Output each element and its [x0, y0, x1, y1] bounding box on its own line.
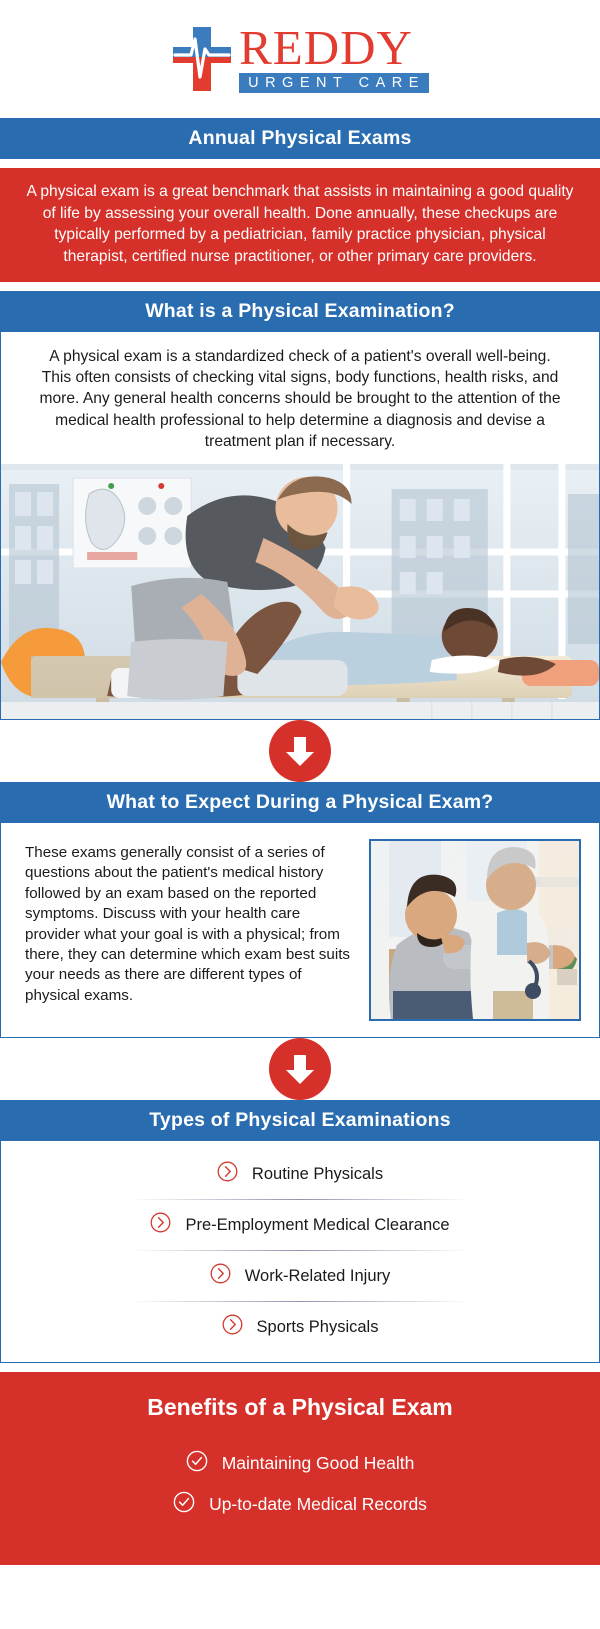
what-to-expect-body-text: These exams generally consist of a serie…: [25, 839, 355, 1006]
list-item-label: Routine Physicals: [252, 1165, 383, 1184]
spacer-before-benefits: [0, 1363, 600, 1372]
down-arrow-icon: [269, 1038, 331, 1100]
list-item[interactable]: Up-to-date Medical Records: [10, 1484, 590, 1525]
logo[interactable]: REDDY URGENT CARE: [171, 25, 429, 94]
check-circle-icon: [186, 1450, 208, 1477]
intro-paragraph: A physical exam is a great benchmark tha…: [0, 168, 600, 282]
chevron-right-circle-icon: [210, 1263, 231, 1289]
down-arrow-icon: [269, 720, 331, 782]
list-item-label: Work-Related Injury: [245, 1267, 391, 1286]
page-title: Annual Physical Exams: [0, 118, 600, 159]
list-item-label: Maintaining Good Health: [222, 1453, 415, 1474]
section-heading-benefits: Benefits of a Physical Exam: [10, 1394, 590, 1421]
types-list: Routine Physicals Pre-Employment Medical…: [1, 1141, 599, 1362]
site-logo-header: REDDY URGENT CARE: [0, 0, 600, 118]
list-item[interactable]: Sports Physicals: [1, 1302, 599, 1352]
list-item[interactable]: Routine Physicals: [1, 1149, 599, 1199]
section-heading-types: Types of Physical Examinations: [0, 1100, 600, 1141]
list-divider: [130, 1301, 470, 1302]
arrow-divider-2: [0, 1038, 600, 1100]
spacer-after-title: [0, 159, 600, 168]
list-item[interactable]: Pre-Employment Medical Clearance: [1, 1200, 599, 1250]
section-panel-what-is: A physical exam is a standardized check …: [0, 332, 600, 720]
what-is-body-text: A physical exam is a standardized check …: [1, 332, 599, 464]
logo-tagline: URGENT CARE: [239, 73, 429, 93]
list-item-label: Sports Physicals: [257, 1318, 379, 1337]
list-divider: [130, 1199, 470, 1200]
arrow-divider-1: [0, 720, 600, 782]
spacer-after-intro: [0, 282, 600, 291]
list-divider: [130, 1250, 470, 1251]
list-item[interactable]: Work-Related Injury: [1, 1251, 599, 1301]
medical-cross-ekg-logo-icon: [171, 25, 233, 93]
chevron-right-circle-icon: [222, 1314, 243, 1340]
list-item-label: Up-to-date Medical Records: [209, 1494, 427, 1515]
check-circle-icon: [173, 1491, 195, 1518]
list-item-label: Pre-Employment Medical Clearance: [185, 1216, 449, 1235]
physical-therapy-photo: [1, 464, 599, 719]
doctor-exam-photo: [369, 839, 581, 1021]
section-heading-what-is: What is a Physical Examination?: [0, 291, 600, 332]
section-panel-what-to-expect: These exams generally consist of a serie…: [0, 823, 600, 1038]
chevron-right-circle-icon: [150, 1212, 171, 1238]
logo-brand-text: REDDY: [239, 25, 429, 72]
section-heading-what-to-expect: What to Expect During a Physical Exam?: [0, 782, 600, 823]
section-panel-types: Routine Physicals Pre-Employment Medical…: [0, 1141, 600, 1363]
section-benefits: Benefits of a Physical Exam Maintaining …: [0, 1372, 600, 1565]
chevron-right-circle-icon: [217, 1161, 238, 1187]
list-item[interactable]: Maintaining Good Health: [10, 1443, 590, 1484]
